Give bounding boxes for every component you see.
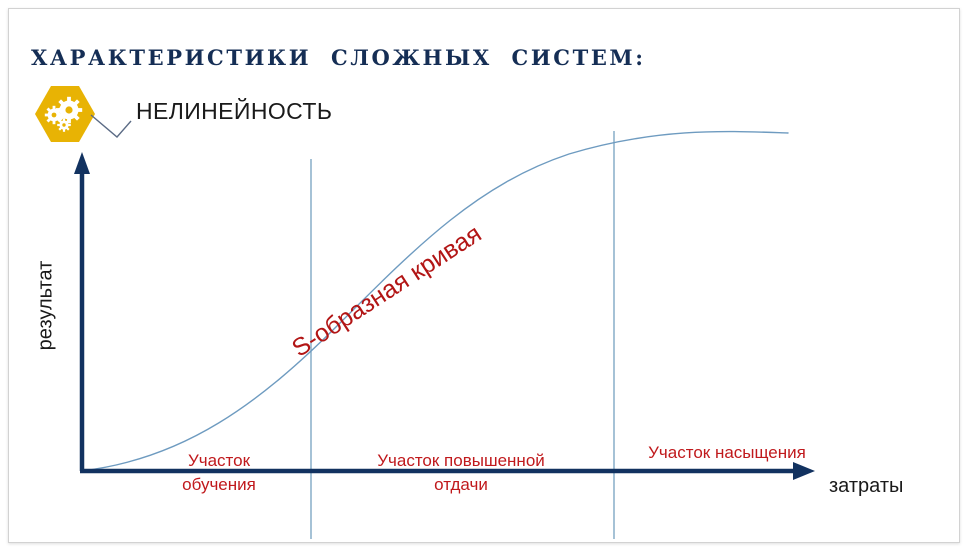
callout-leader-line — [91, 115, 131, 137]
x-axis-title: затраты — [829, 475, 903, 498]
s-curve — [81, 132, 788, 471]
zone-label-high-return: Участок повышенной отдачи — [311, 449, 611, 497]
y-axis-arrowhead — [74, 152, 90, 174]
zone-label-saturation: Участок насыщения — [607, 441, 847, 465]
y-axis-title: результат — [35, 236, 58, 376]
slide-card: ХАРАКТЕРИСТИКИ СЛОЖНЫХ СИСТЕМ: — [8, 8, 960, 543]
zone-label-learning: Участок обучения — [129, 449, 309, 497]
